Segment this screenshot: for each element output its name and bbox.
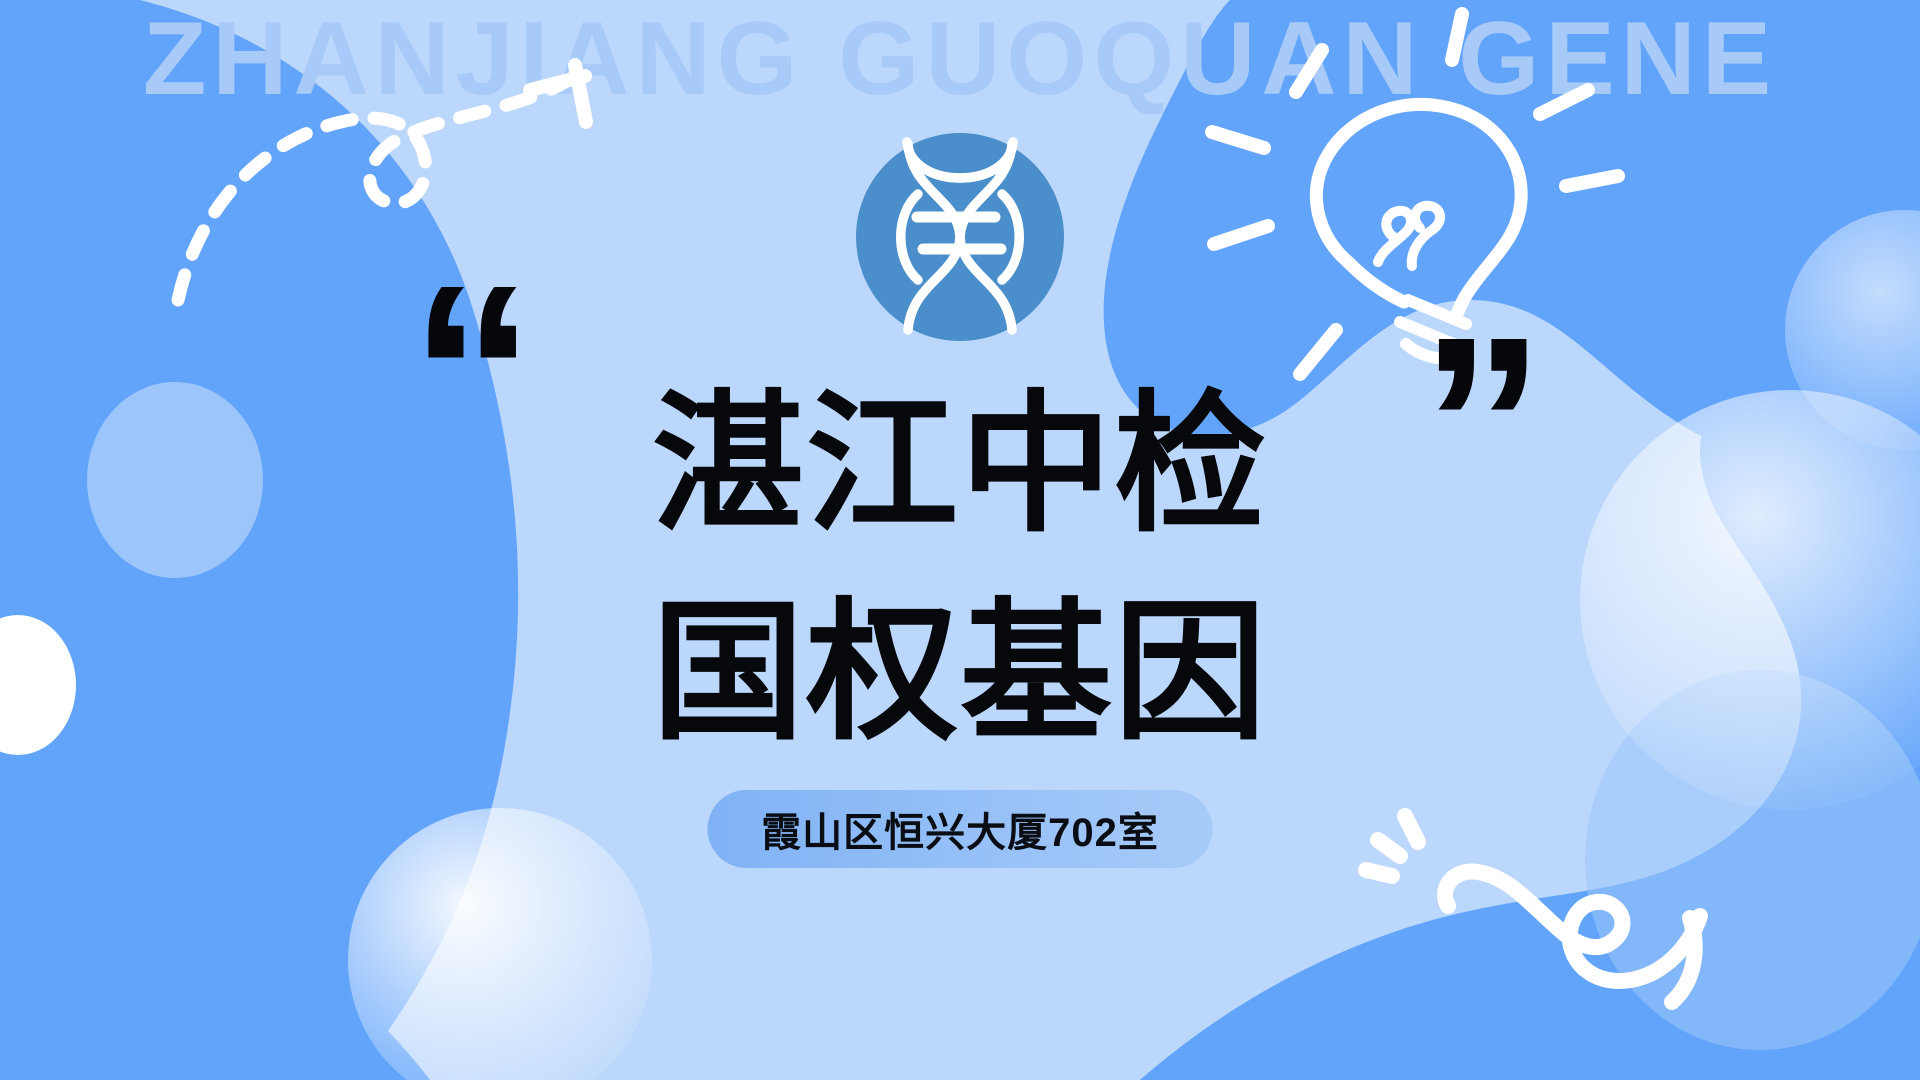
looped-squiggle-icon (1445, 871, 1700, 1002)
lightbulb-icon (1212, 14, 1618, 374)
dna-helix-logo (855, 132, 1065, 342)
address-text: 霞山区恒兴大厦702室 (761, 800, 1159, 858)
sparkle-dashes-icon (1366, 816, 1418, 876)
logo-container (855, 132, 1065, 342)
page-title-line-1: 湛江中检 (0, 370, 1920, 560)
title-block: 湛江中检 国权基因 (0, 370, 1920, 768)
page-title-line-2: 国权基因 (0, 578, 1920, 768)
address-badge: 霞山区恒兴大厦702室 (708, 790, 1213, 868)
poster-canvas: ZHANJIANG GUOQUAN GENE (0, 0, 1920, 1080)
